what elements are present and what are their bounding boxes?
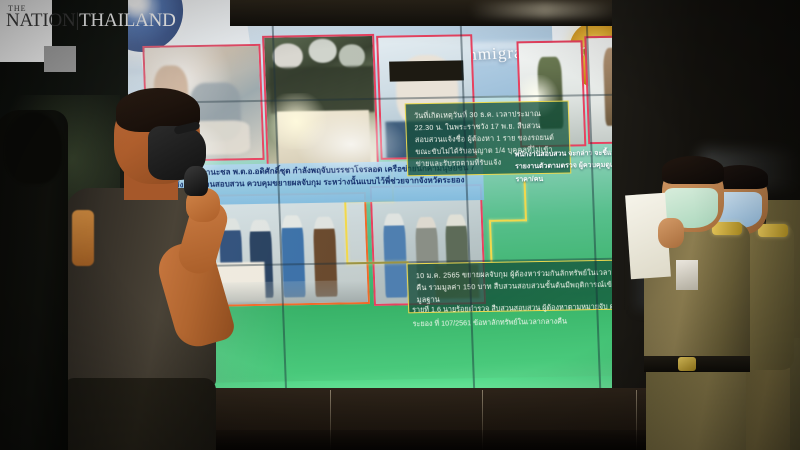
officer1-belt-buckle [678,357,696,371]
microphone-icon [184,166,208,196]
officer1-id-badge [676,260,698,290]
censor-bar [389,60,464,81]
watermark-thailand: THAILAND [79,10,176,31]
officer1-epaulette [712,222,742,235]
officer1-hand [658,218,684,248]
foreground-silhouette-head [6,112,62,184]
officer1-trousers [646,370,746,450]
screen-light-reflection [295,111,407,177]
officer1-belt [644,356,750,372]
watermark-nation: NATION [6,10,76,31]
police-officer-foreground [642,160,754,450]
news-photo-frame: กองบังคับการสืบสวนสอบสวน สำนักงานตรวจคนเ… [0,0,800,450]
the-nation-thailand-watermark: THE NATION|THAILAND [6,4,176,32]
officer1-hair [662,156,724,184]
officer2-epaulette [758,224,788,237]
watermark-grey-square [44,46,76,72]
speaker-shoulder-patch [72,210,94,266]
speaker-trousers [64,378,216,450]
speaker-with-microphone [58,92,254,450]
ceiling-light [470,2,620,18]
